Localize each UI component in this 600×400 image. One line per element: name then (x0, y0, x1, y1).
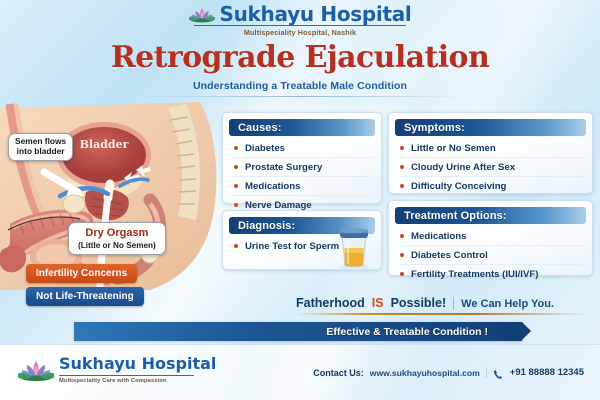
causes-list: Diabetes Prostate Surgery Medications Ne… (233, 139, 373, 214)
anatomy-illustration: Bladder (0, 100, 222, 290)
fatherhood-part2: Possible! (391, 296, 447, 310)
brand-subtitle: Multispeciality Hospital, Nashik (0, 28, 600, 37)
urine-sample-cup-icon (336, 226, 372, 268)
badge-infertility-concerns: Infertility Concerns (26, 264, 137, 283)
effective-treatable-strip: Effective & Treatable Condition ! (74, 322, 522, 341)
fatherhood-part1: Fatherhood (296, 296, 365, 310)
list-item: Difficulty Conceiving (399, 177, 584, 195)
contact-label: Contact Us: (313, 368, 364, 378)
list-item: Prostate Surgery (233, 158, 373, 177)
fatherhood-emphasis: IS (372, 296, 384, 310)
callout-dry-title: Dry Orgasm (78, 227, 156, 240)
symptoms-header: Symptoms: (395, 119, 586, 136)
badge-not-life-threatening: Not Life-Threatening (26, 287, 144, 306)
list-item: Diabetes Control (399, 246, 584, 265)
treatment-list: Medications Diabetes Control Fertility T… (399, 227, 584, 283)
treatment-options-card: Treatment Options: Medications Diabetes … (388, 200, 593, 276)
list-item: Medications (399, 227, 584, 246)
callout-semen-flow: Semen flows into bladder (8, 133, 73, 161)
brand-name: Sukhayu Hospital (220, 4, 412, 24)
callout-semen-line2: into bladder (15, 147, 66, 157)
brand-lockup: Sukhayu Hospital (0, 4, 600, 24)
contact-divider (486, 367, 487, 378)
page-title: Retrograde Ejaculation (0, 43, 600, 73)
phone-icon (493, 367, 504, 378)
fatherhood-banner: Fatherhood IS Possible! We Can Help You. (296, 296, 588, 315)
strip-label: Effective & Treatable Condition ! (326, 326, 488, 338)
footer-brand-subtitle: Multispeciality Care with Compassion (59, 378, 216, 384)
footer-brand-underline (59, 375, 194, 376)
symptoms-heading-label: Symptoms: (404, 122, 465, 134)
fatherhood-divider (453, 297, 454, 310)
diagnosis-heading-label: Diagnosis: (238, 220, 295, 232)
list-item: Medications (233, 177, 373, 196)
symptoms-list: Little or No Semen Cloudy Urine After Se… (399, 139, 584, 195)
list-item: Cloudy Urine After Sex (399, 158, 584, 177)
causes-heading-label: Causes: (238, 122, 282, 134)
footer-brand-lockup: Sukhayu Hospital Multispeciality Care wi… (18, 356, 216, 384)
phone-number[interactable]: +91 88888 12345 (510, 367, 584, 378)
causes-card: Causes: Diabetes Prostate Surgery Medica… (222, 112, 382, 204)
callout-dry-orgasm: Dry Orgasm (Little or No Semen) (68, 222, 166, 255)
list-item: Little or No Semen (399, 139, 584, 158)
footer: Sukhayu Hospital Multispeciality Care wi… (0, 344, 600, 400)
header: Sukhayu Hospital Multispeciality Hospita… (0, 4, 600, 97)
contact-info: Contact Us: www.sukhayuhospital.com +91 … (313, 367, 584, 378)
lotus-icon (18, 358, 54, 382)
bladder-label: Bladder (80, 138, 129, 151)
website-link[interactable]: www.sukhayuhospital.com (370, 368, 480, 378)
fatherhood-underline (296, 313, 588, 315)
callout-dry-subtitle: (Little or No Semen) (78, 241, 156, 250)
fatherhood-tagline: We Can Help You. (461, 298, 554, 310)
list-item: Diabetes (233, 139, 373, 158)
page-subtitle: Understanding a Treatable Male Condition (0, 80, 600, 92)
lotus-icon (189, 6, 215, 23)
title-divider (135, 96, 465, 97)
treatment-heading-label: Treatment Options: (404, 210, 507, 222)
treatment-header: Treatment Options: (395, 207, 586, 224)
symptoms-card: Symptoms: Little or No Semen Cloudy Urin… (388, 112, 593, 194)
footer-brand-name: Sukhayu Hospital (59, 354, 216, 373)
list-item: Fertility Treatments (IUI/IVF) (399, 265, 584, 283)
causes-header: Causes: (229, 119, 375, 136)
